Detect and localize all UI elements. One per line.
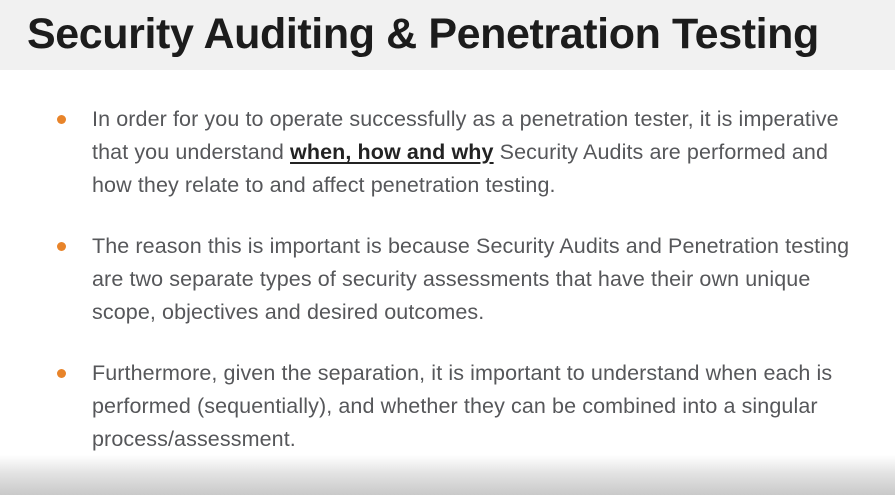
list-item: Furthermore, given the separation, it is… xyxy=(56,357,856,456)
title-band: Security Auditing & Penetration Testing xyxy=(0,0,895,70)
slide: Security Auditing & Penetration Testing … xyxy=(0,0,895,495)
bullet-point-icon xyxy=(57,115,66,124)
page-title: Security Auditing & Penetration Testing xyxy=(27,2,819,66)
list-item: In order for you to operate successfully… xyxy=(56,103,856,202)
bullet-point-icon xyxy=(57,242,66,251)
slide-body: In order for you to operate successfully… xyxy=(0,70,895,455)
footer-band xyxy=(0,455,895,495)
bullet-text: Furthermore, given the separation, it is… xyxy=(92,357,856,456)
bullet-point-icon xyxy=(57,369,66,378)
bullet-text-before: Furthermore, given the separation, it is… xyxy=(92,361,832,451)
list-item: The reason this is important is because … xyxy=(56,230,856,329)
bullet-list: In order for you to operate successfully… xyxy=(56,103,856,456)
bullet-text: In order for you to operate successfully… xyxy=(92,103,856,202)
bullet-text-before: The reason this is important is because … xyxy=(92,234,849,324)
bullet-text: The reason this is important is because … xyxy=(92,230,856,329)
bullet-text-emphasis: when, how and why xyxy=(290,140,494,164)
